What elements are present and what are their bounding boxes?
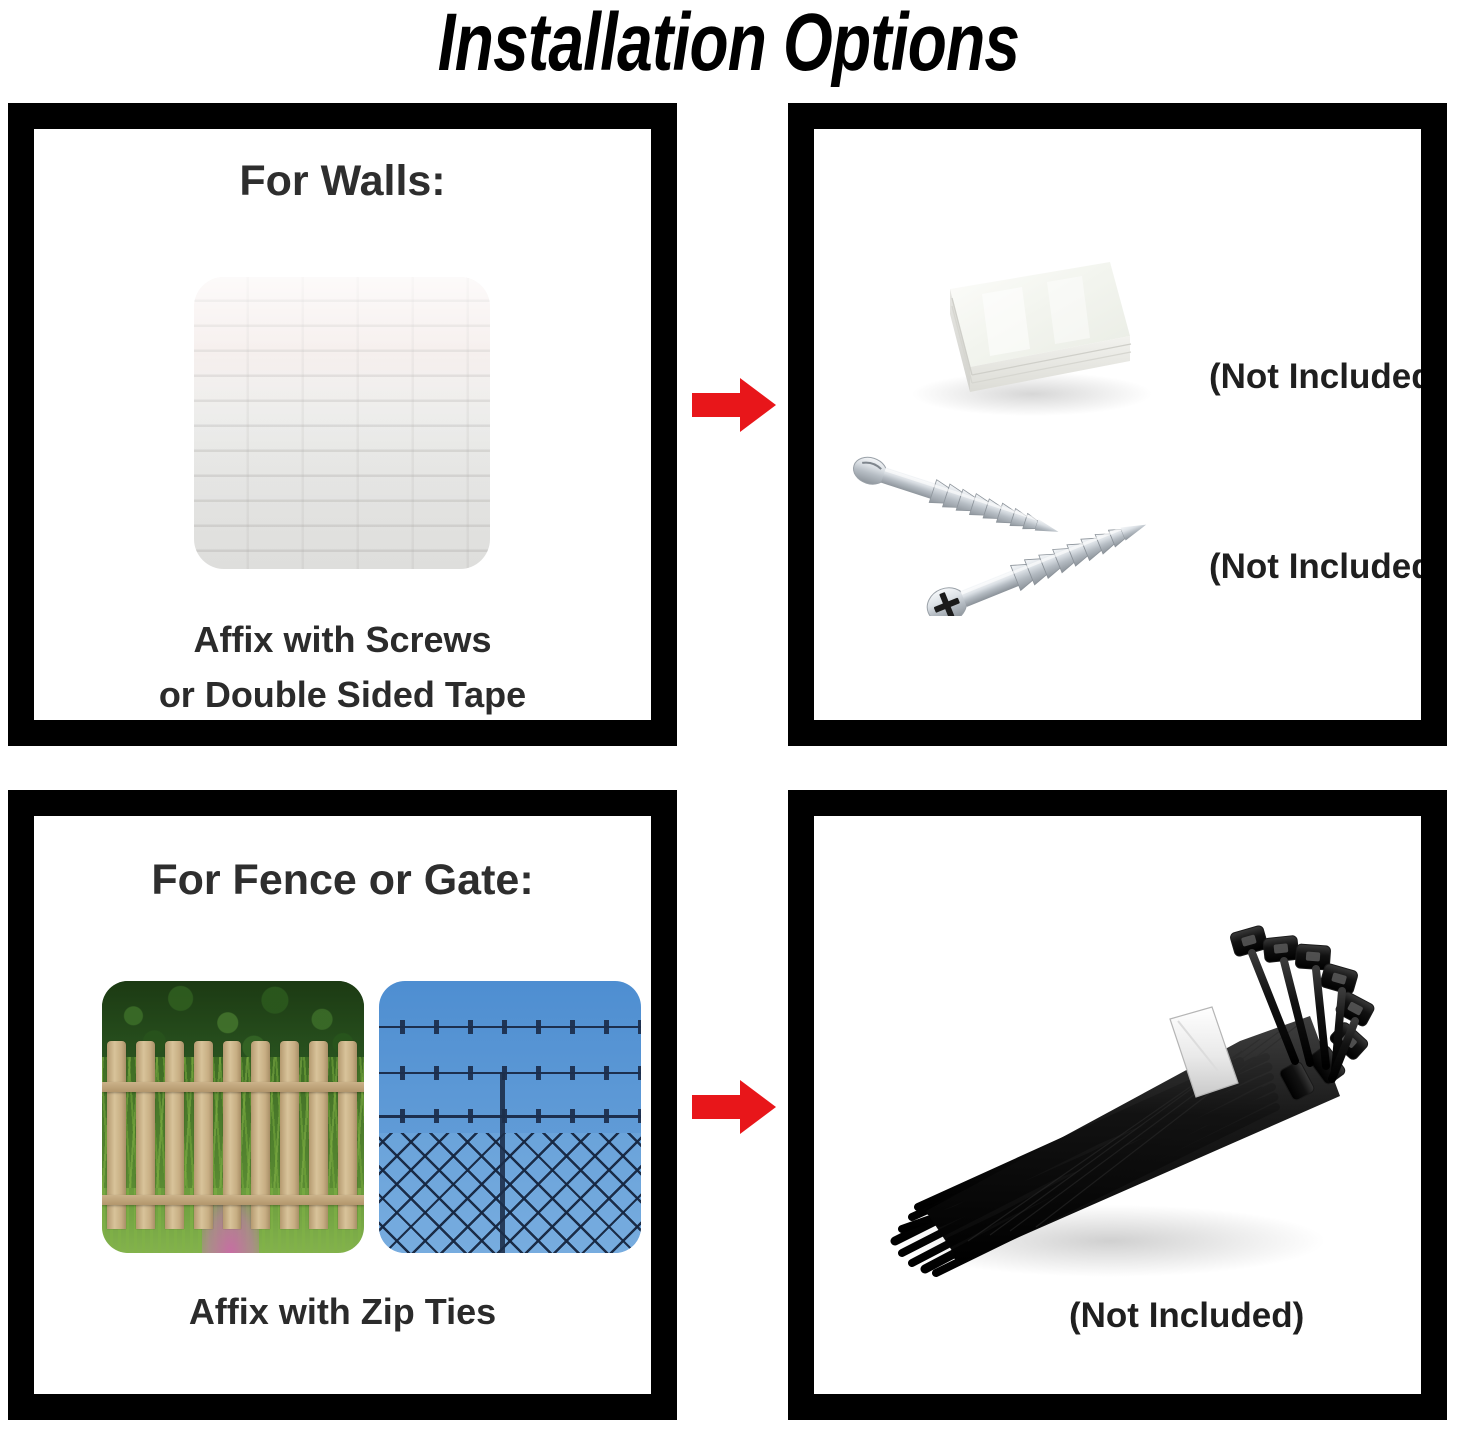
walls-caption-line-2: or Double Sided Tape [34, 674, 651, 716]
page-title: Installation Options [160, 0, 1296, 90]
barbed-wire-strand [379, 1114, 641, 1118]
photo-highlight-overlay [194, 277, 490, 569]
screws-not-included-label: (Not Included) [1209, 547, 1421, 587]
fence-rail-lower [102, 1195, 364, 1205]
panel-for-walls-content: For Walls: Affix with Screws or Double S… [34, 129, 651, 720]
picket-group [102, 1041, 364, 1229]
chain-link-fence-photo [379, 981, 641, 1253]
barbed-wire-strand [379, 1025, 641, 1029]
wooden-picket-fence-photo [102, 981, 364, 1253]
arrow-right-icon [692, 1080, 776, 1134]
for-fence-heading: For Fence or Gate: [34, 856, 651, 905]
fence-rail-upper [102, 1082, 364, 1092]
panel-for-walls: For Walls: Affix with Screws or Double S… [8, 103, 677, 746]
panel-for-fence-or-gate: For Fence or Gate: [8, 790, 677, 1420]
chain-link-mesh [379, 1133, 641, 1253]
tape-not-included-label: (Not Included) [1209, 357, 1421, 397]
double-sided-tape-stack-photo [882, 254, 1160, 419]
wire-line [379, 1072, 641, 1075]
walls-caption-line-1: Affix with Screws [34, 619, 651, 661]
fence-post [500, 1073, 505, 1253]
for-walls-heading: For Walls: [34, 157, 651, 206]
wood-screw-lower-icon [912, 524, 1157, 616]
white-brick-wall-photo [194, 277, 490, 569]
black-zip-ties-bundle-photo [840, 911, 1385, 1301]
panel-for-fence-content: For Fence or Gate: [34, 816, 651, 1394]
ziptie-not-included-label: (Not Included) [1069, 1296, 1304, 1336]
panel-zip-ties-content: (Not Included) [814, 816, 1421, 1394]
fence-caption-line-1: Affix with Zip Ties [34, 1291, 651, 1333]
wire-line [379, 1115, 641, 1118]
wire-line [379, 1026, 641, 1029]
barbed-wire-strand [379, 1071, 641, 1075]
panel-wall-hardware-content: (Not Included) [814, 129, 1421, 720]
panel-wall-hardware: (Not Included) [788, 103, 1447, 746]
arrow-right-icon [692, 378, 776, 432]
installation-options-infographic: Installation Options For Walls: Affix wi… [0, 0, 1457, 1434]
panel-zip-ties: (Not Included) [788, 790, 1447, 1420]
